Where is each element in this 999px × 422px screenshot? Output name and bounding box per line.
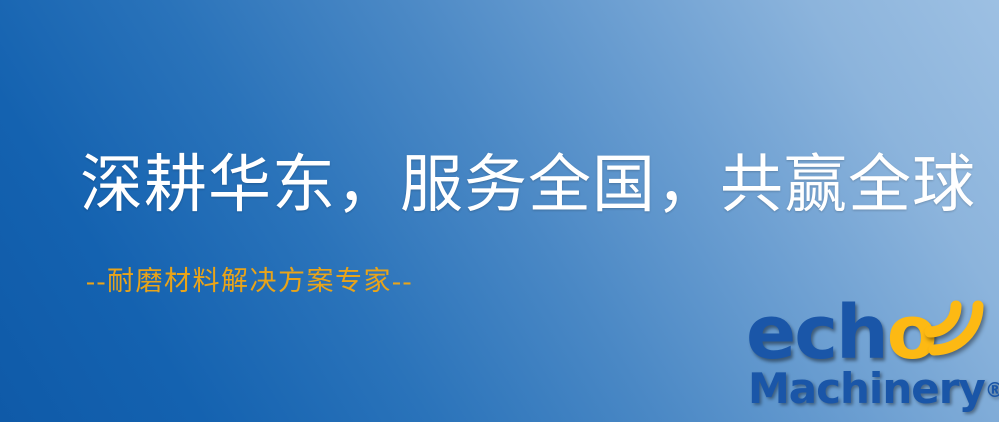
logo-wordmark: echo bbox=[746, 296, 936, 370]
logo-subtext: Machinery® bbox=[748, 366, 999, 413]
banner-subtitle: --耐磨材料解决方案专家-- bbox=[86, 264, 413, 298]
banner-headline: 深耕华东，服务全国，共赢全球 bbox=[80, 150, 950, 220]
logo-subtext-label: Machinery bbox=[748, 364, 985, 413]
registered-trademark-icon: ® bbox=[985, 378, 999, 402]
signal-waves-icon bbox=[922, 294, 984, 356]
company-logo[interactable]: echo Machinery® bbox=[746, 296, 996, 422]
hero-banner: 深耕华东，服务全国，共赢全球 --耐磨材料解决方案专家-- echo Machi… bbox=[0, 0, 999, 422]
